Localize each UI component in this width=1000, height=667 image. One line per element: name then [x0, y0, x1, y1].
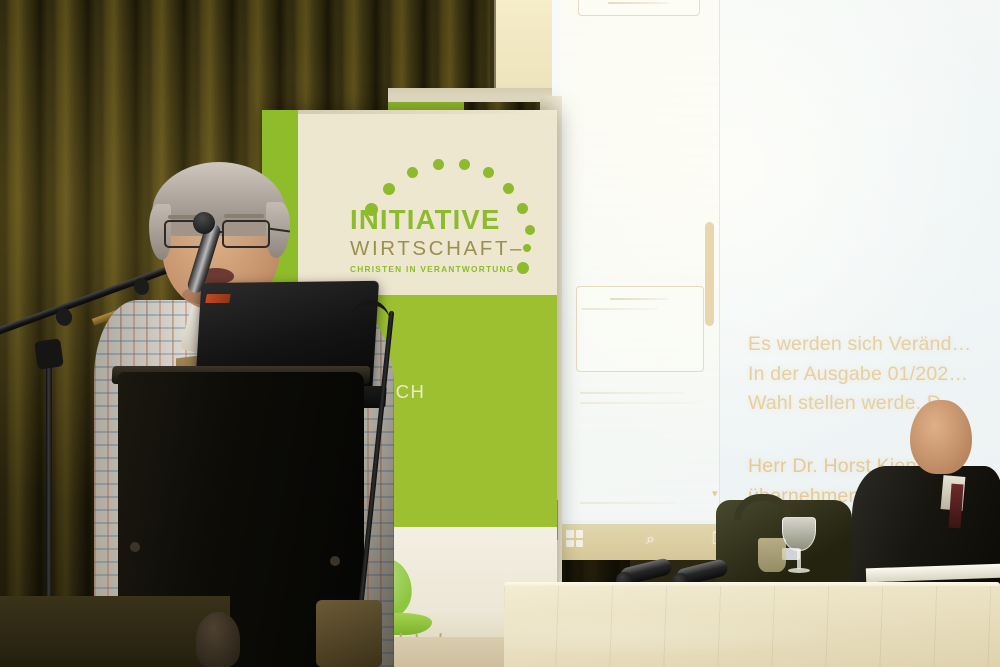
search-icon[interactable]: ⌕	[646, 532, 655, 548]
wine-glass-foot	[788, 568, 810, 573]
presentation-scene: Es werden sich Veränd… In der Ausgabe 01…	[0, 0, 1000, 667]
microphone-clamp	[34, 338, 64, 369]
upper-wall-edge	[490, 0, 496, 100]
seated-man-head	[910, 400, 972, 474]
foreground-floor	[0, 596, 230, 667]
projected-doc-line	[580, 402, 698, 404]
projected-scrollbar[interactable]	[705, 222, 714, 326]
slide-line: In der Ausgabe 01/202…	[748, 360, 1000, 390]
thinkpad-logo-icon: ThinkPad	[205, 294, 231, 303]
audience-silhouette	[196, 612, 240, 667]
bullet-marker-icon: ▾	[712, 487, 718, 500]
tablecloth-folds	[504, 586, 1000, 667]
projected-doc-line	[582, 308, 658, 310]
projected-doc-line	[610, 298, 668, 300]
speaker-eyebrow	[224, 214, 264, 218]
wine-glass	[782, 517, 816, 573]
foreground-chair	[316, 600, 382, 667]
wine-glass-stem	[797, 549, 801, 569]
windows-start-icon[interactable]	[566, 530, 583, 547]
projected-doc-line	[608, 2, 668, 4]
eyeglasses-icon	[160, 220, 284, 250]
eyeglass-lens	[222, 220, 270, 248]
lectern-fitting	[330, 556, 340, 566]
lectern-fitting	[130, 542, 140, 552]
projected-document-pane	[560, 0, 720, 520]
banner-top-edge	[262, 110, 557, 114]
wine-glass-bowl	[782, 517, 816, 551]
slide-paragraph-one: Es werden sich Veränd… In der Ausgabe 01…	[748, 330, 1000, 419]
projected-doc-line	[580, 502, 676, 504]
projected-doc-line	[580, 392, 684, 394]
slide-line: Es werden sich Veränd…	[748, 330, 1000, 360]
